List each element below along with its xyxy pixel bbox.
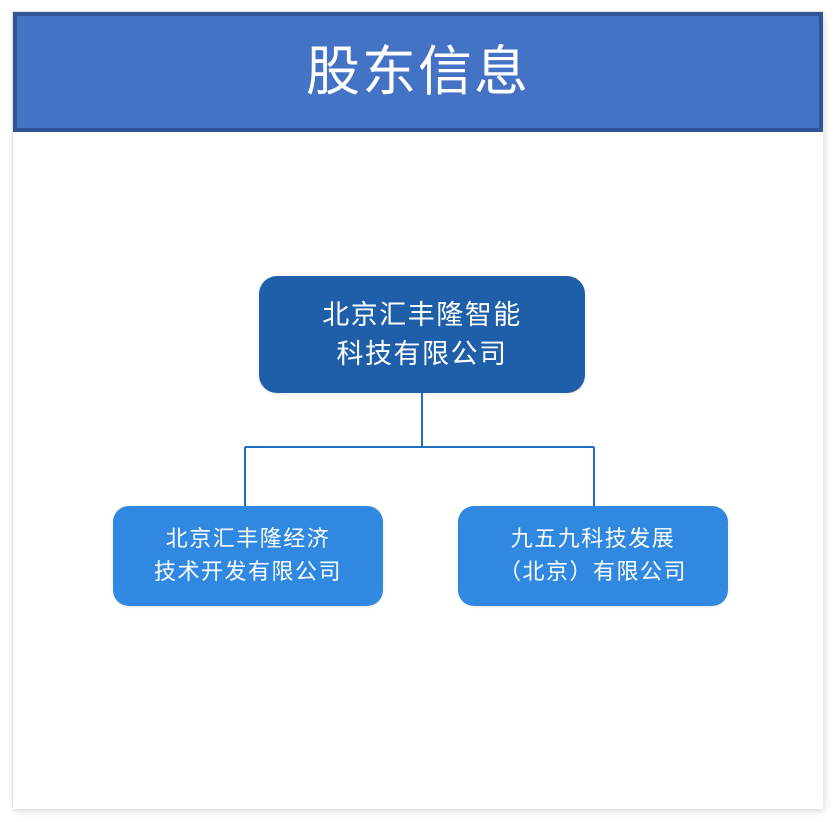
org-node-child-2-label: 九五九科技发展 （北京）有限公司 bbox=[489, 523, 697, 588]
org-node-child-2-line1: 九五九科技发展 bbox=[511, 526, 676, 551]
org-node-root-line1: 北京汇丰隆智能 bbox=[322, 300, 522, 330]
connector-lines bbox=[13, 132, 823, 809]
org-node-root[interactable]: 北京汇丰隆智能 科技有限公司 bbox=[259, 276, 585, 393]
shareholder-info-card: 股东信息 北京汇丰隆智能 科技有限公司 bbox=[12, 11, 822, 808]
org-node-child-2-line2: （北京）有限公司 bbox=[499, 559, 687, 584]
org-chart-canvas: 北京汇丰隆智能 科技有限公司 北京汇丰隆经济 技术开发有限公司 九五九科技发展 … bbox=[13, 132, 823, 809]
card-header: 股东信息 bbox=[13, 12, 823, 132]
org-node-child-1-label: 北京汇丰隆经济 技术开发有限公司 bbox=[144, 523, 352, 588]
page-title: 股东信息 bbox=[306, 45, 530, 99]
org-node-child-1[interactable]: 北京汇丰隆经济 技术开发有限公司 bbox=[113, 506, 383, 606]
org-node-child-2[interactable]: 九五九科技发展 （北京）有限公司 bbox=[458, 506, 728, 606]
org-node-root-label: 北京汇丰隆智能 科技有限公司 bbox=[312, 296, 532, 373]
org-node-child-1-line1: 北京汇丰隆经济 bbox=[166, 526, 331, 551]
screen-root: 股东信息 北京汇丰隆智能 科技有限公司 bbox=[0, 0, 836, 822]
org-node-child-1-line2: 技术开发有限公司 bbox=[154, 559, 342, 584]
org-node-root-line2: 科技有限公司 bbox=[337, 339, 508, 369]
